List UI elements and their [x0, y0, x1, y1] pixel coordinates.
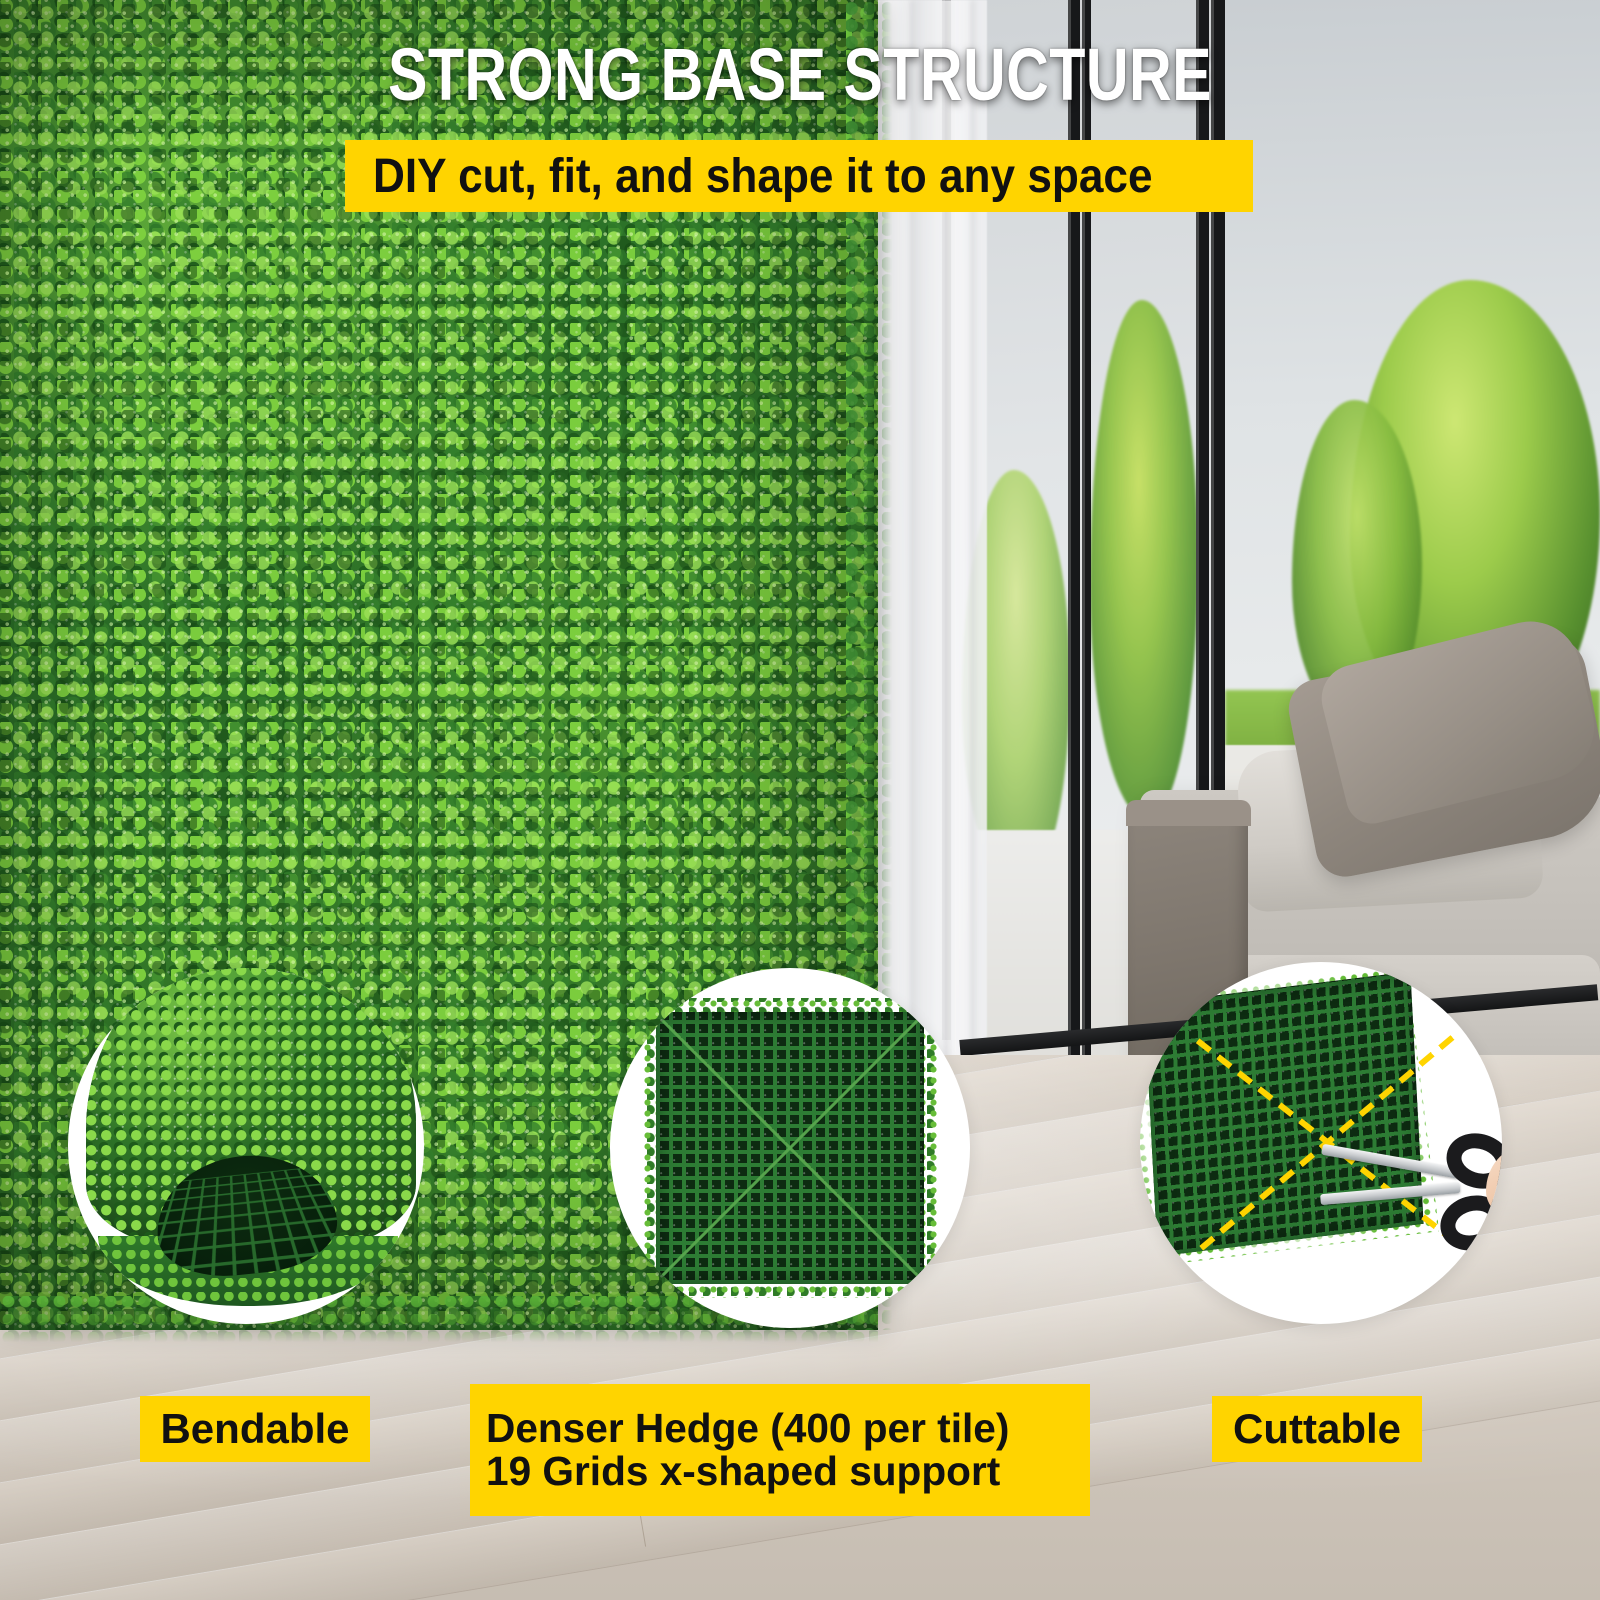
tile-back-grid-icon [656, 1012, 924, 1284]
caption-bendable: Bendable [140, 1396, 370, 1462]
feature-photo-bendable [68, 968, 424, 1324]
feature-photo-cuttable [1140, 962, 1502, 1324]
caption-denser-hedge: Denser Hedge (400 per tile) 19 Grids x-s… [470, 1384, 1090, 1516]
product-feature-image: STRONG BASE STRUCTURE DIY cut, fit, and … [0, 0, 1600, 1600]
room-scene [0, 0, 1600, 1600]
sofa-armrest-top [1126, 800, 1251, 826]
subtitle-banner: DIY cut, fit, and shape it to any space [345, 140, 1253, 212]
caption-denser-line-2: 19 Grids x-shaped support [486, 1450, 1000, 1493]
tree-outside-small-a [1090, 300, 1198, 820]
page-title: STRONG BASE STRUCTURE [160, 38, 1440, 112]
scissors-cutting-icon [1368, 1130, 1502, 1280]
caption-cuttable: Cuttable [1212, 1396, 1422, 1462]
feature-photo-denser-hedge [610, 968, 970, 1328]
x-shaped-support-grid [656, 1012, 924, 1284]
caption-denser-line-1: Denser Hedge (400 per tile) [486, 1407, 1009, 1450]
subtitle-text: DIY cut, fit, and shape it to any space [373, 149, 1153, 204]
